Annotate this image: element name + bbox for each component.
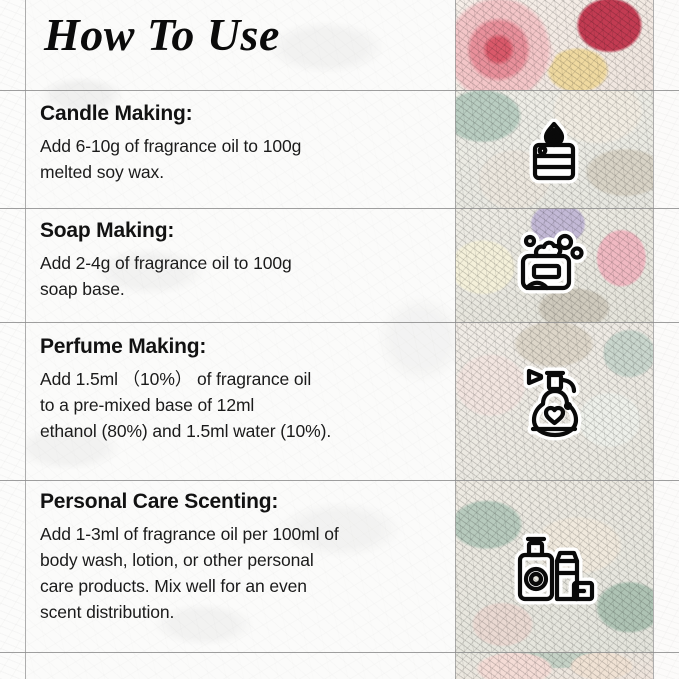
body-line: scent distribution.: [40, 599, 339, 625]
top-rose-illustration: [455, 0, 653, 90]
bottom-floral-illustration: [455, 652, 653, 679]
section-candle-making: Candle Making: Add 6-10g of fragrance oi…: [40, 102, 301, 185]
personal-care-products-icon: [510, 525, 598, 607]
perfume-bottle-icon: [511, 360, 597, 442]
illustration-column: [455, 0, 653, 679]
section-personal-care-scenting: Personal Care Scenting: Add 1-3ml of fra…: [40, 490, 339, 625]
body-line: Add 1.5ml （10%） of fragrance oil: [40, 366, 331, 392]
body-line: Add 2-4g of fragrance oil to 100g: [40, 250, 292, 276]
divider-rule-4: [0, 480, 679, 481]
body-line: care products. Mix well for an even: [40, 573, 339, 599]
section-body: Add 6-10g of fragrance oil to 100g melte…: [40, 133, 301, 185]
candle-icon-band: [455, 90, 653, 208]
right-margin-strip: [653, 0, 679, 679]
divider-rule-1: [0, 90, 679, 91]
section-body: Add 1.5ml （10%） of fragrance oil to a pr…: [40, 366, 331, 444]
section-soap-making: Soap Making: Add 2-4g of fragrance oil t…: [40, 219, 292, 302]
left-vertical-rule: [25, 0, 26, 679]
section-heading: Perfume Making:: [40, 335, 331, 359]
divider-rule-5: [0, 652, 679, 653]
body-line: to a pre-mixed base of 12ml: [40, 392, 331, 418]
divider-rule-3: [0, 322, 679, 323]
perfume-icon-band: [455, 322, 653, 480]
soap-bar-icon: [513, 226, 595, 304]
left-margin-strip: [0, 0, 25, 679]
section-heading: Candle Making:: [40, 102, 301, 126]
body-line: melted soy wax.: [40, 159, 301, 185]
section-body: Add 1-3ml of fragrance oil per 100ml of …: [40, 521, 339, 625]
candle-icon: [515, 110, 593, 188]
section-perfume-making: Perfume Making: Add 1.5ml （10%） of fragr…: [40, 335, 331, 444]
divider-rule-2: [0, 208, 679, 209]
page-title: How To Use: [44, 8, 280, 61]
how-to-use-infographic: How To Use Candle Making: Add 6-10g of f…: [0, 0, 679, 679]
section-heading: Soap Making:: [40, 219, 292, 243]
body-line: Add 6-10g of fragrance oil to 100g: [40, 133, 301, 159]
body-line: body wash, lotion, or other personal: [40, 547, 339, 573]
section-body: Add 2-4g of fragrance oil to 100g soap b…: [40, 250, 292, 302]
column-divider-rule: [455, 0, 456, 679]
soap-icon-band: [455, 208, 653, 322]
section-heading: Personal Care Scenting:: [40, 490, 339, 514]
body-line: soap base.: [40, 276, 292, 302]
personal-care-icon-band: [455, 480, 653, 652]
body-line: ethanol (80%) and 1.5ml water (10%).: [40, 418, 331, 444]
right-vertical-rule: [653, 0, 654, 679]
body-line: Add 1-3ml of fragrance oil per 100ml of: [40, 521, 339, 547]
